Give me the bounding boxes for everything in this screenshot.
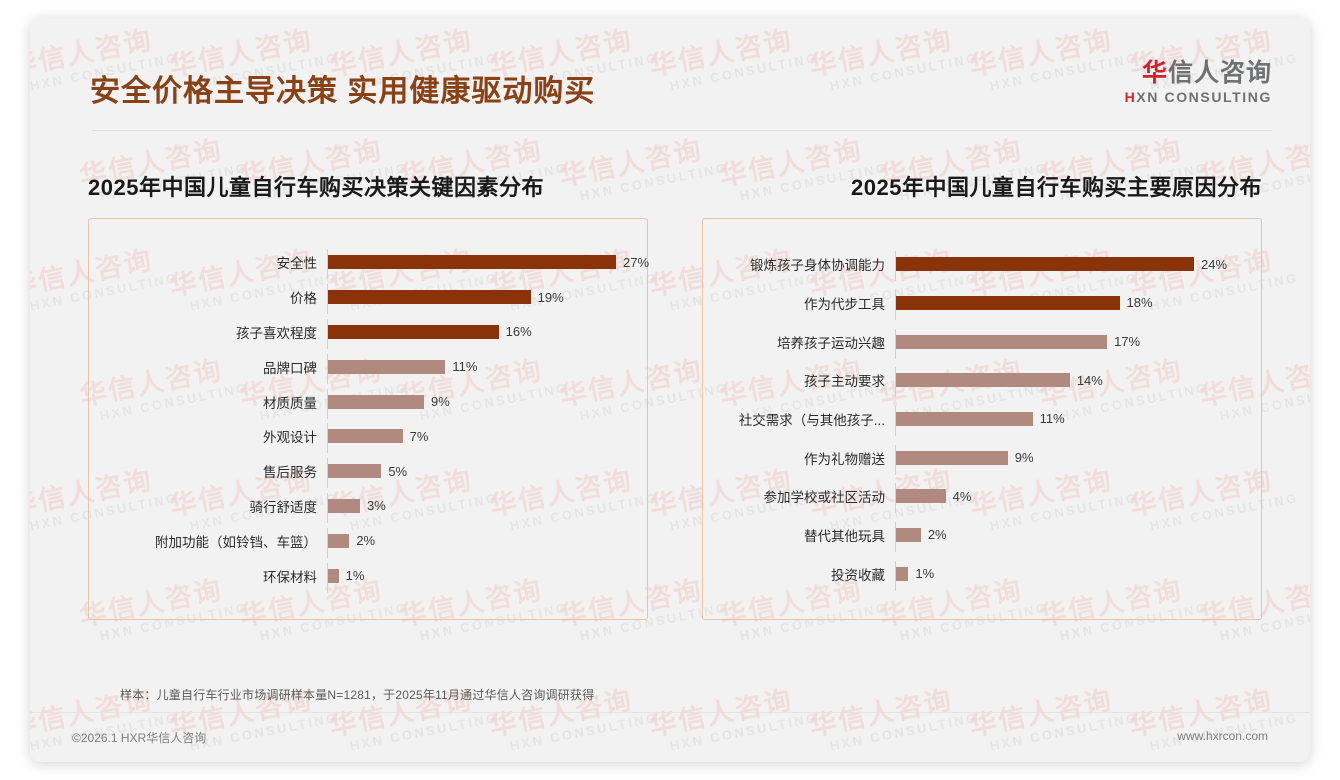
chart-block-purchase-reasons: 2025年中国儿童自行车购买主要原因分布 锻炼孩子身体协调能力24%作为代步工具… <box>702 170 1262 620</box>
bar-value-label: 14% <box>1077 373 1103 388</box>
bar[interactable] <box>328 255 616 269</box>
chart-title-right: 2025年中国儿童自行车购买主要原因分布 <box>702 170 1262 202</box>
bar-row: 社交需求（与其他孩子...11% <box>703 406 1261 432</box>
bar-row: 替代其他玩具2% <box>703 522 1261 548</box>
bar-track: 24% <box>896 257 1261 272</box>
bar[interactable] <box>328 429 403 443</box>
logo-en-accent: H <box>1125 89 1137 105</box>
bar[interactable] <box>328 499 360 513</box>
bar-track: 11% <box>328 359 647 374</box>
bar-row: 材质质量9% <box>89 389 647 415</box>
chart-title-left: 2025年中国儿童自行车购买决策关键因素分布 <box>88 170 648 202</box>
bar[interactable] <box>896 451 1008 465</box>
bar-value-label: 19% <box>538 290 564 305</box>
bar-category-label: 社交需求（与其他孩子... <box>703 409 895 429</box>
bar-value-label: 17% <box>1114 334 1140 349</box>
bar-value-label: 1% <box>915 566 934 581</box>
bar-row: 培养孩子运动兴趣17% <box>703 329 1261 355</box>
bar-value-label: 9% <box>431 394 450 409</box>
bar[interactable] <box>896 335 1107 349</box>
bar-row: 孩子主动要求14% <box>703 367 1261 393</box>
bar-track: 19% <box>328 290 647 305</box>
bar-value-label: 11% <box>1040 411 1065 426</box>
bar-row: 品牌口碑11% <box>89 354 647 380</box>
bar-value-label: 5% <box>388 464 407 479</box>
logo-cn-accent: 华 <box>1142 59 1168 87</box>
slide-footer: ©2026.1 HXR华信人咨询 www.hxrcon.com <box>30 712 1310 762</box>
bar-track: 2% <box>896 527 1261 542</box>
chart-panel-left: 安全性27%价格19%孩子喜欢程度16%品牌口碑11%材质质量9%外观设计7%售… <box>88 218 648 620</box>
bar-row: 参加学校或社区活动4% <box>703 483 1261 509</box>
bar-track: 1% <box>896 566 1261 581</box>
bar-category-label: 投资收藏 <box>703 564 895 584</box>
bar-track: 16% <box>328 324 647 339</box>
bar[interactable] <box>896 412 1033 426</box>
bar[interactable] <box>328 360 445 374</box>
bar[interactable] <box>896 528 921 542</box>
bar-row: 外观设计7% <box>89 423 647 449</box>
bar[interactable] <box>896 489 946 503</box>
bar-value-label: 4% <box>953 489 972 504</box>
bar-category-label: 外观设计 <box>89 426 327 446</box>
bar-value-label: 16% <box>506 324 532 339</box>
bar[interactable] <box>896 296 1120 310</box>
bar-category-label: 锻炼孩子身体协调能力 <box>703 254 895 274</box>
bar-track: 9% <box>896 450 1261 465</box>
bar-row: 安全性27% <box>89 249 647 275</box>
bar-rows-right: 锻炼孩子身体协调能力24%作为代步工具18%培养孩子运动兴趣17%孩子主动要求1… <box>703 245 1261 593</box>
bar-category-label: 作为代步工具 <box>703 293 895 313</box>
bar-value-label: 9% <box>1015 450 1034 465</box>
sample-note: 样本：儿童自行车行业市场调研样本量N=1281，于2025年11月通过华信人咨询… <box>120 686 594 703</box>
bar-rows-left: 安全性27%价格19%孩子喜欢程度16%品牌口碑11%材质质量9%外观设计7%售… <box>89 245 647 593</box>
bar-row: 价格19% <box>89 284 647 310</box>
bar-row: 售后服务5% <box>89 458 647 484</box>
bar-track: 3% <box>328 498 647 513</box>
bar-track: 9% <box>328 394 647 409</box>
bar-track: 2% <box>328 533 647 548</box>
company-logo: 华信人咨询 HXN CONSULTING <box>1125 60 1272 105</box>
bar-value-label: 2% <box>928 527 947 542</box>
bar-track: 11% <box>896 411 1261 426</box>
logo-en-rest: XN CONSULTING <box>1136 89 1272 105</box>
bar-value-label: 7% <box>410 429 429 444</box>
bar-track: 7% <box>328 429 647 444</box>
logo-english: HXN CONSULTING <box>1125 89 1272 105</box>
bar-row: 环保材料1% <box>89 563 647 589</box>
bar-track: 1% <box>328 568 647 583</box>
bar[interactable] <box>328 534 349 548</box>
bar-row: 投资收藏1% <box>703 561 1261 587</box>
logo-chinese: 华信人咨询 <box>1125 60 1272 86</box>
page-title: 安全价格主导决策 实用健康驱动购买 <box>90 66 595 110</box>
bar-track: 5% <box>328 464 647 479</box>
bar[interactable] <box>328 325 499 339</box>
bar-category-label: 附加功能（如铃铛、车篮） <box>89 531 327 551</box>
bar-category-label: 材质质量 <box>89 392 327 412</box>
header-divider <box>92 130 1272 131</box>
slide-card: 华信人咨询HXN CONSULTING华信人咨询HXN CONSULTING华信… <box>30 18 1310 762</box>
bar-category-label: 环保材料 <box>89 566 327 586</box>
bar-category-label: 孩子喜欢程度 <box>89 322 327 342</box>
bar-value-label: 3% <box>367 498 386 513</box>
bar[interactable] <box>328 464 381 478</box>
website-link[interactable]: www.hxrcon.com <box>1177 729 1268 743</box>
bar-category-label: 替代其他玩具 <box>703 525 895 545</box>
bar-value-label: 11% <box>452 359 477 374</box>
bar-row: 锻炼孩子身体协调能力24% <box>703 251 1261 277</box>
bar-row: 骑行舒适度3% <box>89 493 647 519</box>
slide-header: 安全价格主导决策 实用健康驱动购买 华信人咨询 HXN CONSULTING <box>30 18 1310 110</box>
bar-category-label: 价格 <box>89 287 327 307</box>
logo-cn-rest: 信人咨询 <box>1168 59 1272 87</box>
bar-track: 17% <box>896 334 1261 349</box>
bar-category-label: 售后服务 <box>89 461 327 481</box>
copyright-text: ©2026.1 HXR华信人咨询 <box>72 729 206 746</box>
bar-category-label: 孩子主动要求 <box>703 370 895 390</box>
bar-category-label: 培养孩子运动兴趣 <box>703 332 895 352</box>
chart-block-decision-factors: 2025年中国儿童自行车购买决策关键因素分布 安全性27%价格19%孩子喜欢程度… <box>88 170 648 620</box>
bar-category-label: 品牌口碑 <box>89 357 327 377</box>
bar[interactable] <box>328 395 424 409</box>
bar-category-label: 作为礼物赠送 <box>703 448 895 468</box>
bar-value-label: 18% <box>1127 295 1153 310</box>
bar-category-label: 参加学校或社区活动 <box>703 486 895 506</box>
chart-panel-right: 锻炼孩子身体协调能力24%作为代步工具18%培养孩子运动兴趣17%孩子主动要求1… <box>702 218 1262 620</box>
bar-row: 作为礼物赠送9% <box>703 445 1261 471</box>
bar-category-label: 骑行舒适度 <box>89 496 327 516</box>
bar-row: 附加功能（如铃铛、车篮）2% <box>89 528 647 554</box>
bar-track: 18% <box>896 295 1261 310</box>
bar[interactable] <box>328 290 531 304</box>
bar[interactable] <box>896 373 1070 387</box>
bar[interactable] <box>896 257 1194 271</box>
bar[interactable] <box>328 569 339 583</box>
bar-row: 作为代步工具18% <box>703 290 1261 316</box>
bar-track: 27% <box>328 255 647 270</box>
bar-value-label: 1% <box>346 568 365 583</box>
bar-value-label: 2% <box>356 533 375 548</box>
bar-track: 14% <box>896 373 1261 388</box>
bar-category-label: 安全性 <box>89 252 327 272</box>
bar-value-label: 27% <box>623 255 649 270</box>
bar-value-label: 24% <box>1201 257 1227 272</box>
bar-track: 4% <box>896 489 1261 504</box>
bar-row: 孩子喜欢程度16% <box>89 319 647 345</box>
bar[interactable] <box>896 567 908 581</box>
